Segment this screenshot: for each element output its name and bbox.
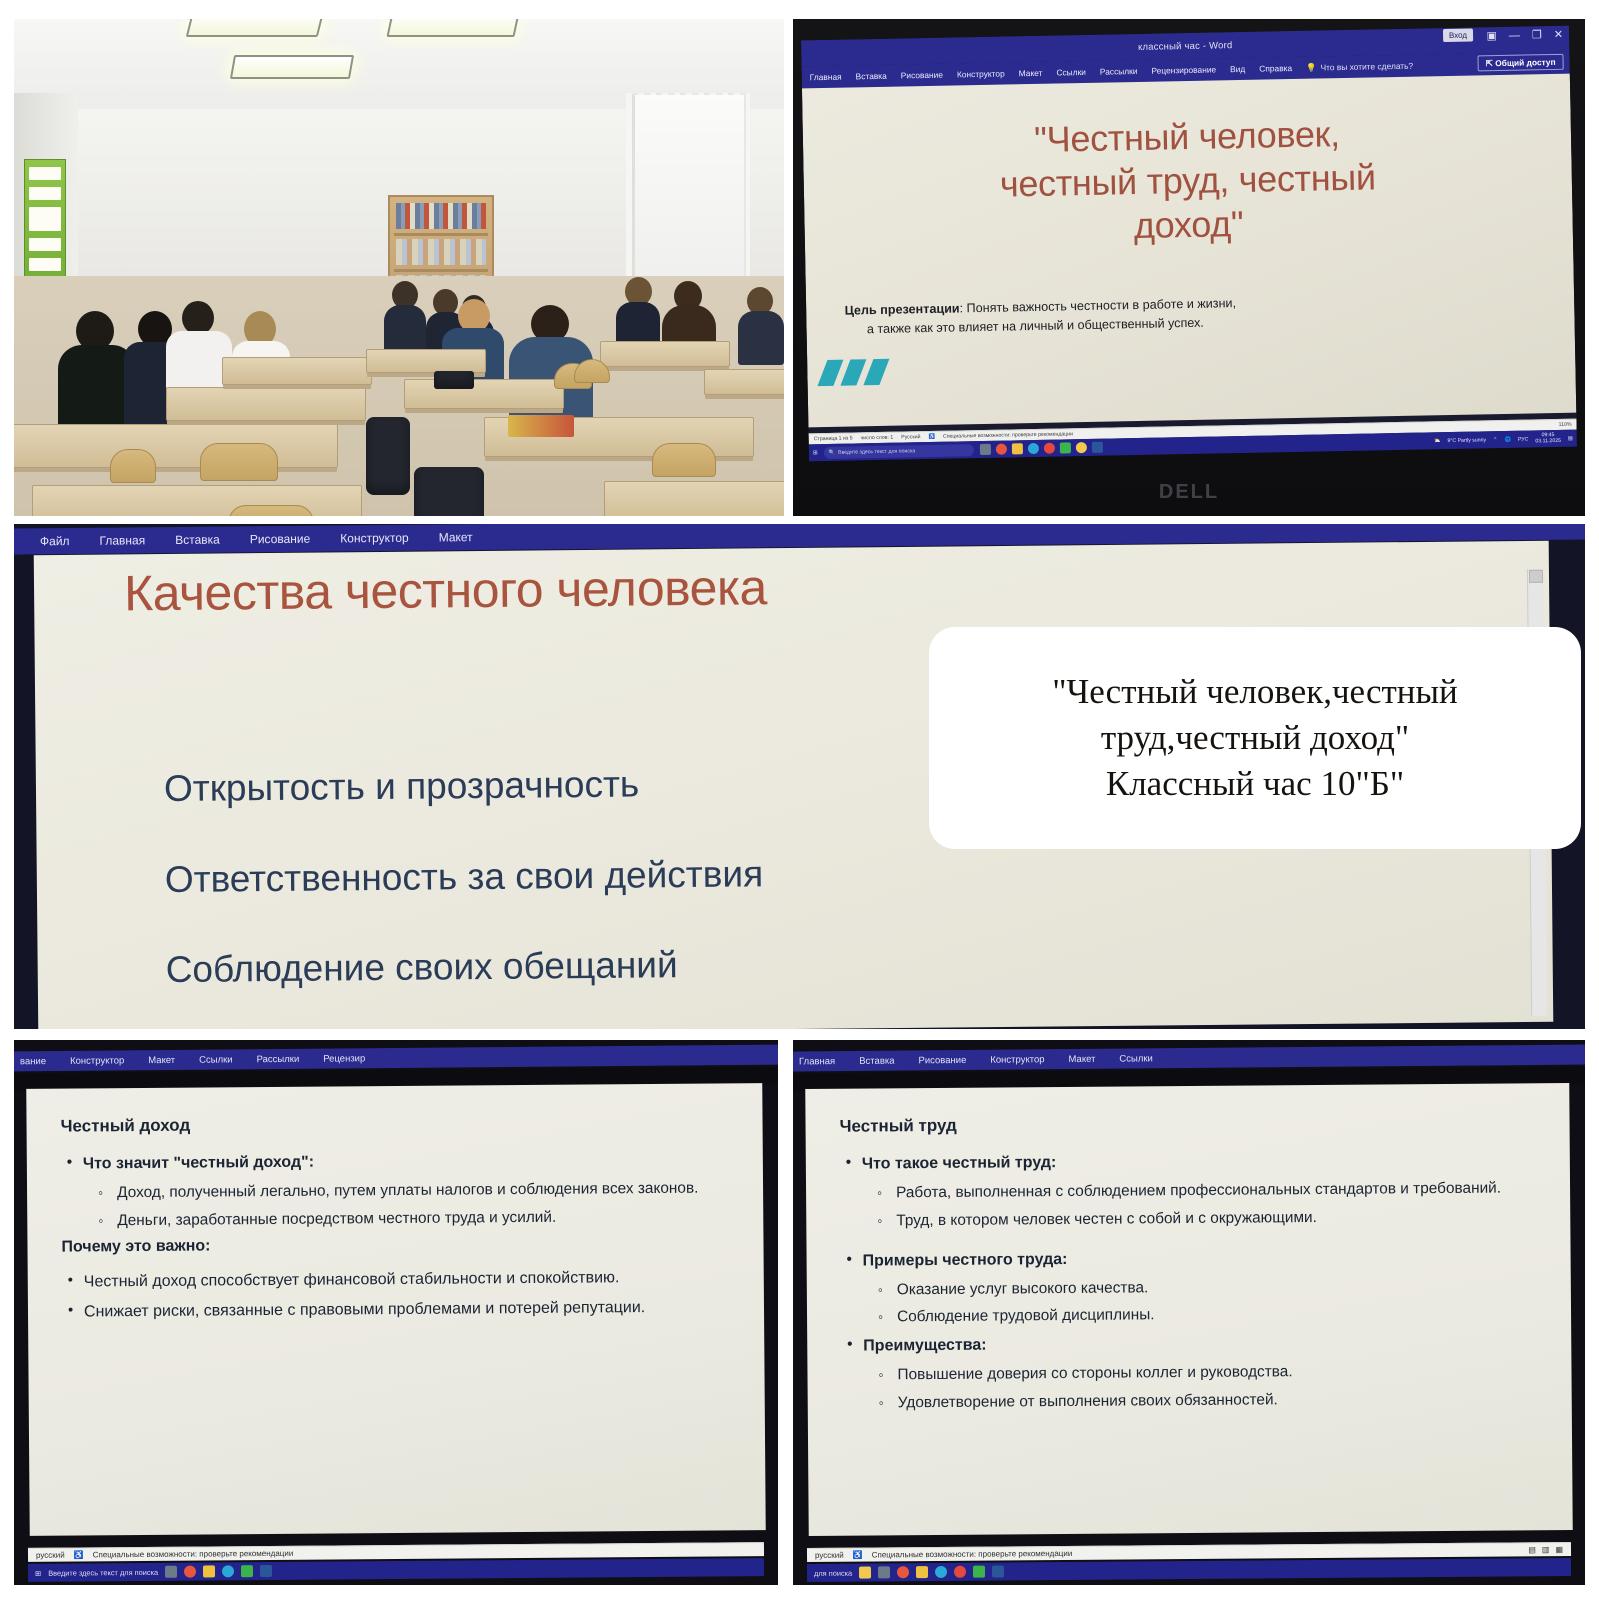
status-page: Страница 1 из 5 <box>814 435 853 442</box>
yandex-icon[interactable] <box>954 1566 966 1578</box>
task-view-icon[interactable] <box>165 1566 177 1578</box>
list-item: Труд, в котором человек честен с собой и… <box>896 1205 1544 1233</box>
scroll-up-arrow-icon[interactable] <box>1528 570 1542 583</box>
list-item: Снижает риски, связанные с правовыми про… <box>84 1295 738 1324</box>
income-slide-panel: вание Конструктор Макет Ссылки Рассылки … <box>14 1040 778 1585</box>
chevron-up-icon[interactable]: ⌃ <box>1493 437 1497 443</box>
ribbon-tab[interactable]: Вставка <box>859 1055 894 1066</box>
list-item: Что такое честный труд: <box>862 1147 1544 1176</box>
notebook <box>508 415 574 437</box>
clock-date: 03.11.2025 <box>1535 438 1561 444</box>
status-language: русский <box>815 1551 844 1560</box>
document-title: классный час - Word <box>1138 40 1233 53</box>
sign-in-button[interactable]: Вход <box>1443 29 1473 43</box>
ribbon-tab[interactable]: Вид <box>1230 64 1245 74</box>
list-item: Соблюдение трудовой дисциплины. <box>897 1302 1545 1330</box>
search-placeholder: Введите здесь текст для поиска <box>838 448 915 455</box>
close-button[interactable]: ✕ <box>1554 28 1563 41</box>
income-heading: Честный доход <box>60 1111 736 1136</box>
ribbon-tab[interactable]: Вставка <box>856 71 887 82</box>
list-item: Повышение доверия со стороны коллег и ру… <box>897 1359 1545 1387</box>
accessibility-icon: ♿ <box>74 1550 84 1559</box>
tell-me-box[interactable]: 💡 Что вы хотите сделать? <box>1306 60 1413 73</box>
desk <box>404 379 564 409</box>
labour-heading: Честный труд <box>839 1111 1543 1137</box>
taskbar-pinned-apps[interactable] <box>979 442 1102 455</box>
task-view-icon[interactable] <box>979 444 990 455</box>
classroom-window <box>632 95 744 305</box>
word-document-area[interactable]: "Честный человек, честный труд, честный … <box>802 74 1576 428</box>
desk <box>14 424 338 468</box>
desk <box>222 357 372 385</box>
status-words: число слов: 1 <box>861 435 894 442</box>
goal-label: Цель презентации <box>844 302 959 318</box>
word-icon[interactable] <box>260 1565 272 1577</box>
ceiling-lamp <box>230 55 354 79</box>
telegram-icon[interactable] <box>935 1566 947 1578</box>
ribbon-tab[interactable]: Рассылки <box>257 1053 300 1064</box>
ribbon-tab[interactable]: Ссылки <box>1056 67 1086 78</box>
file-explorer-icon[interactable] <box>203 1565 215 1577</box>
ribbon-tab[interactable]: Конструктор <box>957 69 1005 80</box>
list-item: Удовлетворение от выполнения своих обяза… <box>898 1387 1546 1415</box>
ribbon-tab[interactable]: Рецензирование <box>1151 64 1216 75</box>
labour-document[interactable]: Честный труд Что такое честный труд: Раб… <box>805 1083 1572 1536</box>
word-title-slide-panel: классный час - Word Вход ▣ — ❐ ✕ Главная… <box>793 19 1585 516</box>
caption-line-2: труд,честный доход" <box>1101 715 1409 761</box>
list-item: Соблюдение своих обещаний <box>165 920 764 1016</box>
start-button-icon[interactable]: ⊞ <box>813 450 818 456</box>
taskbar-search-placeholder[interactable]: для поиска <box>814 1568 852 1577</box>
classroom-photo-panel <box>14 19 784 516</box>
list-item: Работа, выполненная с соблюдением профес… <box>896 1177 1544 1205</box>
opera-icon[interactable] <box>897 1566 909 1578</box>
ribbon-options-icon[interactable]: ▣ <box>1486 29 1497 42</box>
desk <box>366 349 486 373</box>
restore-button[interactable]: ❐ <box>1532 28 1542 41</box>
ribbon-tab[interactable]: Конструктор <box>70 1055 124 1066</box>
caption-overlay: "Честный человек,честный труд,честный до… <box>929 627 1581 849</box>
window-controls[interactable]: ▣ — ❐ ✕ <box>1486 28 1563 42</box>
list-item: Почему это важно: <box>61 1233 737 1256</box>
status-zoom[interactable]: 110% <box>1559 422 1572 428</box>
monitor-bezel: классный час - Word Вход ▣ — ❐ ✕ Главная… <box>793 19 1585 516</box>
taskbar-search-placeholder[interactable]: Введите здесь текст для поиска <box>48 1567 158 1577</box>
chair <box>228 505 314 516</box>
status-language: Русский <box>901 434 920 440</box>
taskbar-clock[interactable]: 09:45 03.11.2025 <box>1535 433 1561 444</box>
telegram-icon[interactable] <box>222 1565 234 1577</box>
lightbulb-icon: 💡 <box>1306 62 1317 73</box>
caption-line-3: Классный час 10"Б" <box>1106 761 1404 807</box>
ceiling-lamp <box>186 19 324 37</box>
status-language: русский <box>36 1551 65 1560</box>
accessibility-icon: ♿ <box>928 434 935 440</box>
ribbon-tab[interactable]: Конструктор <box>340 531 409 546</box>
ribbon-tab[interactable]: Макет <box>439 530 473 544</box>
notifications-icon[interactable]: ▤ <box>1568 435 1573 441</box>
file-explorer-icon[interactable] <box>916 1566 928 1578</box>
student <box>616 277 660 351</box>
list-item: Ответственность за свои действия <box>164 829 763 925</box>
excel-icon[interactable] <box>973 1566 985 1578</box>
desk <box>600 341 730 367</box>
yandex-icon[interactable] <box>1043 443 1054 454</box>
qualities-list: Открытость и прозрачность Ответственност… <box>164 738 765 1016</box>
ribbon-tab[interactable]: Макет <box>148 1054 175 1065</box>
status-accessibility: Специальные возможности: проверьте реком… <box>872 1549 1073 1560</box>
list-item: Преимущества: <box>863 1329 1545 1358</box>
labour-taskbar[interactable]: для поиска <box>807 1558 1571 1582</box>
status-accessibility: Специальные возможности: проверьте реком… <box>93 1549 294 1560</box>
ribbon-tab[interactable]: Рисование <box>250 532 311 547</box>
list-item: Примеры честного труда: <box>863 1244 1545 1273</box>
search-icon: 🔍 <box>829 449 836 455</box>
student <box>384 281 426 351</box>
view-print-layout-icon[interactable]: ▤ <box>1528 1545 1536 1554</box>
slide-title: "Честный человек, честный труд, честный … <box>849 108 1527 253</box>
share-label: Общий доступ <box>1495 57 1556 68</box>
view-web-layout-icon[interactable]: ▥ <box>1542 1545 1550 1554</box>
excel-icon[interactable] <box>1059 442 1070 453</box>
chair <box>110 449 156 483</box>
ribbon-tab[interactable]: Ссылки <box>199 1054 233 1065</box>
income-screen: вание Конструктор Макет Ссылки Рассылки … <box>14 1040 778 1585</box>
telegram-icon[interactable] <box>1027 443 1038 454</box>
desk <box>166 387 366 421</box>
taskbar-tray[interactable]: ⛅ 9°C Partly sunny ⌃ 🌐 РУС 09:45 03.11.2… <box>1434 433 1573 447</box>
accessibility-icon: ♿ <box>853 1551 863 1560</box>
sparkle-icon[interactable] <box>859 1566 871 1578</box>
ribbon-tab[interactable]: Рисование <box>918 1054 966 1065</box>
word-icon[interactable] <box>992 1565 1004 1577</box>
list-item: Доход, полученный легально, путем уплаты… <box>117 1177 737 1205</box>
chair <box>200 443 278 481</box>
list-item: Открытость и прозрачность <box>164 738 763 834</box>
ribbon-tab[interactable]: Справка <box>1259 63 1292 74</box>
opera-icon[interactable] <box>184 1566 196 1578</box>
desk <box>32 485 362 516</box>
word-icon[interactable] <box>1091 442 1102 453</box>
classroom-scene <box>14 19 784 516</box>
ceiling-lamp <box>386 19 519 37</box>
ribbon-tab[interactable]: Вставка <box>175 533 220 547</box>
list-item: Что значит "честный доход": <box>83 1147 737 1176</box>
ribbon-tab[interactable]: вание <box>20 1056 46 1067</box>
ribbon-tab[interactable]: Главная <box>810 72 842 83</box>
monitor-brand-logo: DELL <box>793 481 1585 504</box>
teal-stripes-decoration <box>823 359 885 386</box>
task-view-icon[interactable] <box>878 1566 890 1578</box>
network-icon[interactable]: 🌐 <box>1504 436 1511 442</box>
file-explorer-icon[interactable] <box>1011 443 1022 454</box>
ribbon-tab[interactable]: Конструктор <box>990 1054 1044 1065</box>
list-item: Честный доход способствует финансовой ст… <box>84 1265 738 1294</box>
ribbon-tab[interactable]: Главная <box>799 1056 835 1067</box>
labour-screen: Главная Вставка Рисование Конструктор Ма… <box>793 1040 1585 1585</box>
ribbon-tab[interactable]: Ссылки <box>1119 1053 1153 1064</box>
chair <box>652 443 716 477</box>
desk <box>704 369 784 395</box>
minimize-button[interactable]: — <box>1509 29 1520 41</box>
opera-icon[interactable] <box>995 444 1006 455</box>
income-document[interactable]: Честный доход Что значит "честный доход"… <box>26 1083 765 1536</box>
weather-icon[interactable]: ⛅ <box>1434 438 1441 444</box>
labour-slide-panel: Главная Вставка Рисование Конструктор Ма… <box>793 1040 1585 1585</box>
taskbar-search-input[interactable]: 🔍 Введите здесь текст для поиска <box>824 444 974 459</box>
income-taskbar[interactable]: ⊞ Введите здесь текст для поиска <box>28 1558 764 1582</box>
share-button[interactable]: ⇱ Общий доступ <box>1478 54 1564 72</box>
status-accessibility: Специальные возможности: проверьте реком… <box>943 431 1073 439</box>
tell-me-label: Что вы хотите сделать? <box>1320 61 1413 73</box>
ribbon-tab[interactable]: Файл <box>40 534 70 548</box>
caption-line-1: "Честный человек,честный <box>1052 669 1458 715</box>
monitor-screen: классный час - Word Вход ▣ — ❐ ✕ Главная… <box>801 26 1577 462</box>
list-item: Деньги, заработанные посредством честног… <box>117 1205 737 1233</box>
backpack <box>366 417 410 495</box>
qualities-title: Качества честного человека <box>124 558 767 622</box>
list-item: Оказание услуг высокого качества. <box>897 1274 1545 1302</box>
ribbon-tab[interactable]: Рисование <box>901 70 943 81</box>
share-icon: ⇱ <box>1486 58 1493 68</box>
keyboard-layout[interactable]: РУС <box>1518 436 1529 442</box>
ribbon-tab[interactable]: Рассылки <box>1100 66 1138 77</box>
desk <box>604 481 784 516</box>
excel-icon[interactable] <box>241 1565 253 1577</box>
viber-icon[interactable] <box>1075 442 1086 453</box>
pencil-case <box>434 371 474 389</box>
ribbon-tab[interactable]: Главная <box>99 533 145 547</box>
weather-label[interactable]: 9°C Partly sunny <box>1447 437 1486 444</box>
view-read-mode-icon[interactable]: ▦ <box>1555 1545 1563 1554</box>
start-button-icon[interactable]: ⊞ <box>35 1568 41 1577</box>
student <box>738 287 784 363</box>
slide-goal-text: Цель презентации: Понять важность честно… <box>844 289 1536 339</box>
backpack <box>414 467 484 516</box>
ribbon-tab[interactable]: Макет <box>1068 1053 1095 1064</box>
ribbon-tab[interactable]: Макет <box>1019 68 1043 78</box>
photo-collage: классный час - Word Вход ▣ — ❐ ✕ Главная… <box>0 0 1599 1599</box>
ribbon-tab[interactable]: Рецензир <box>323 1053 365 1064</box>
